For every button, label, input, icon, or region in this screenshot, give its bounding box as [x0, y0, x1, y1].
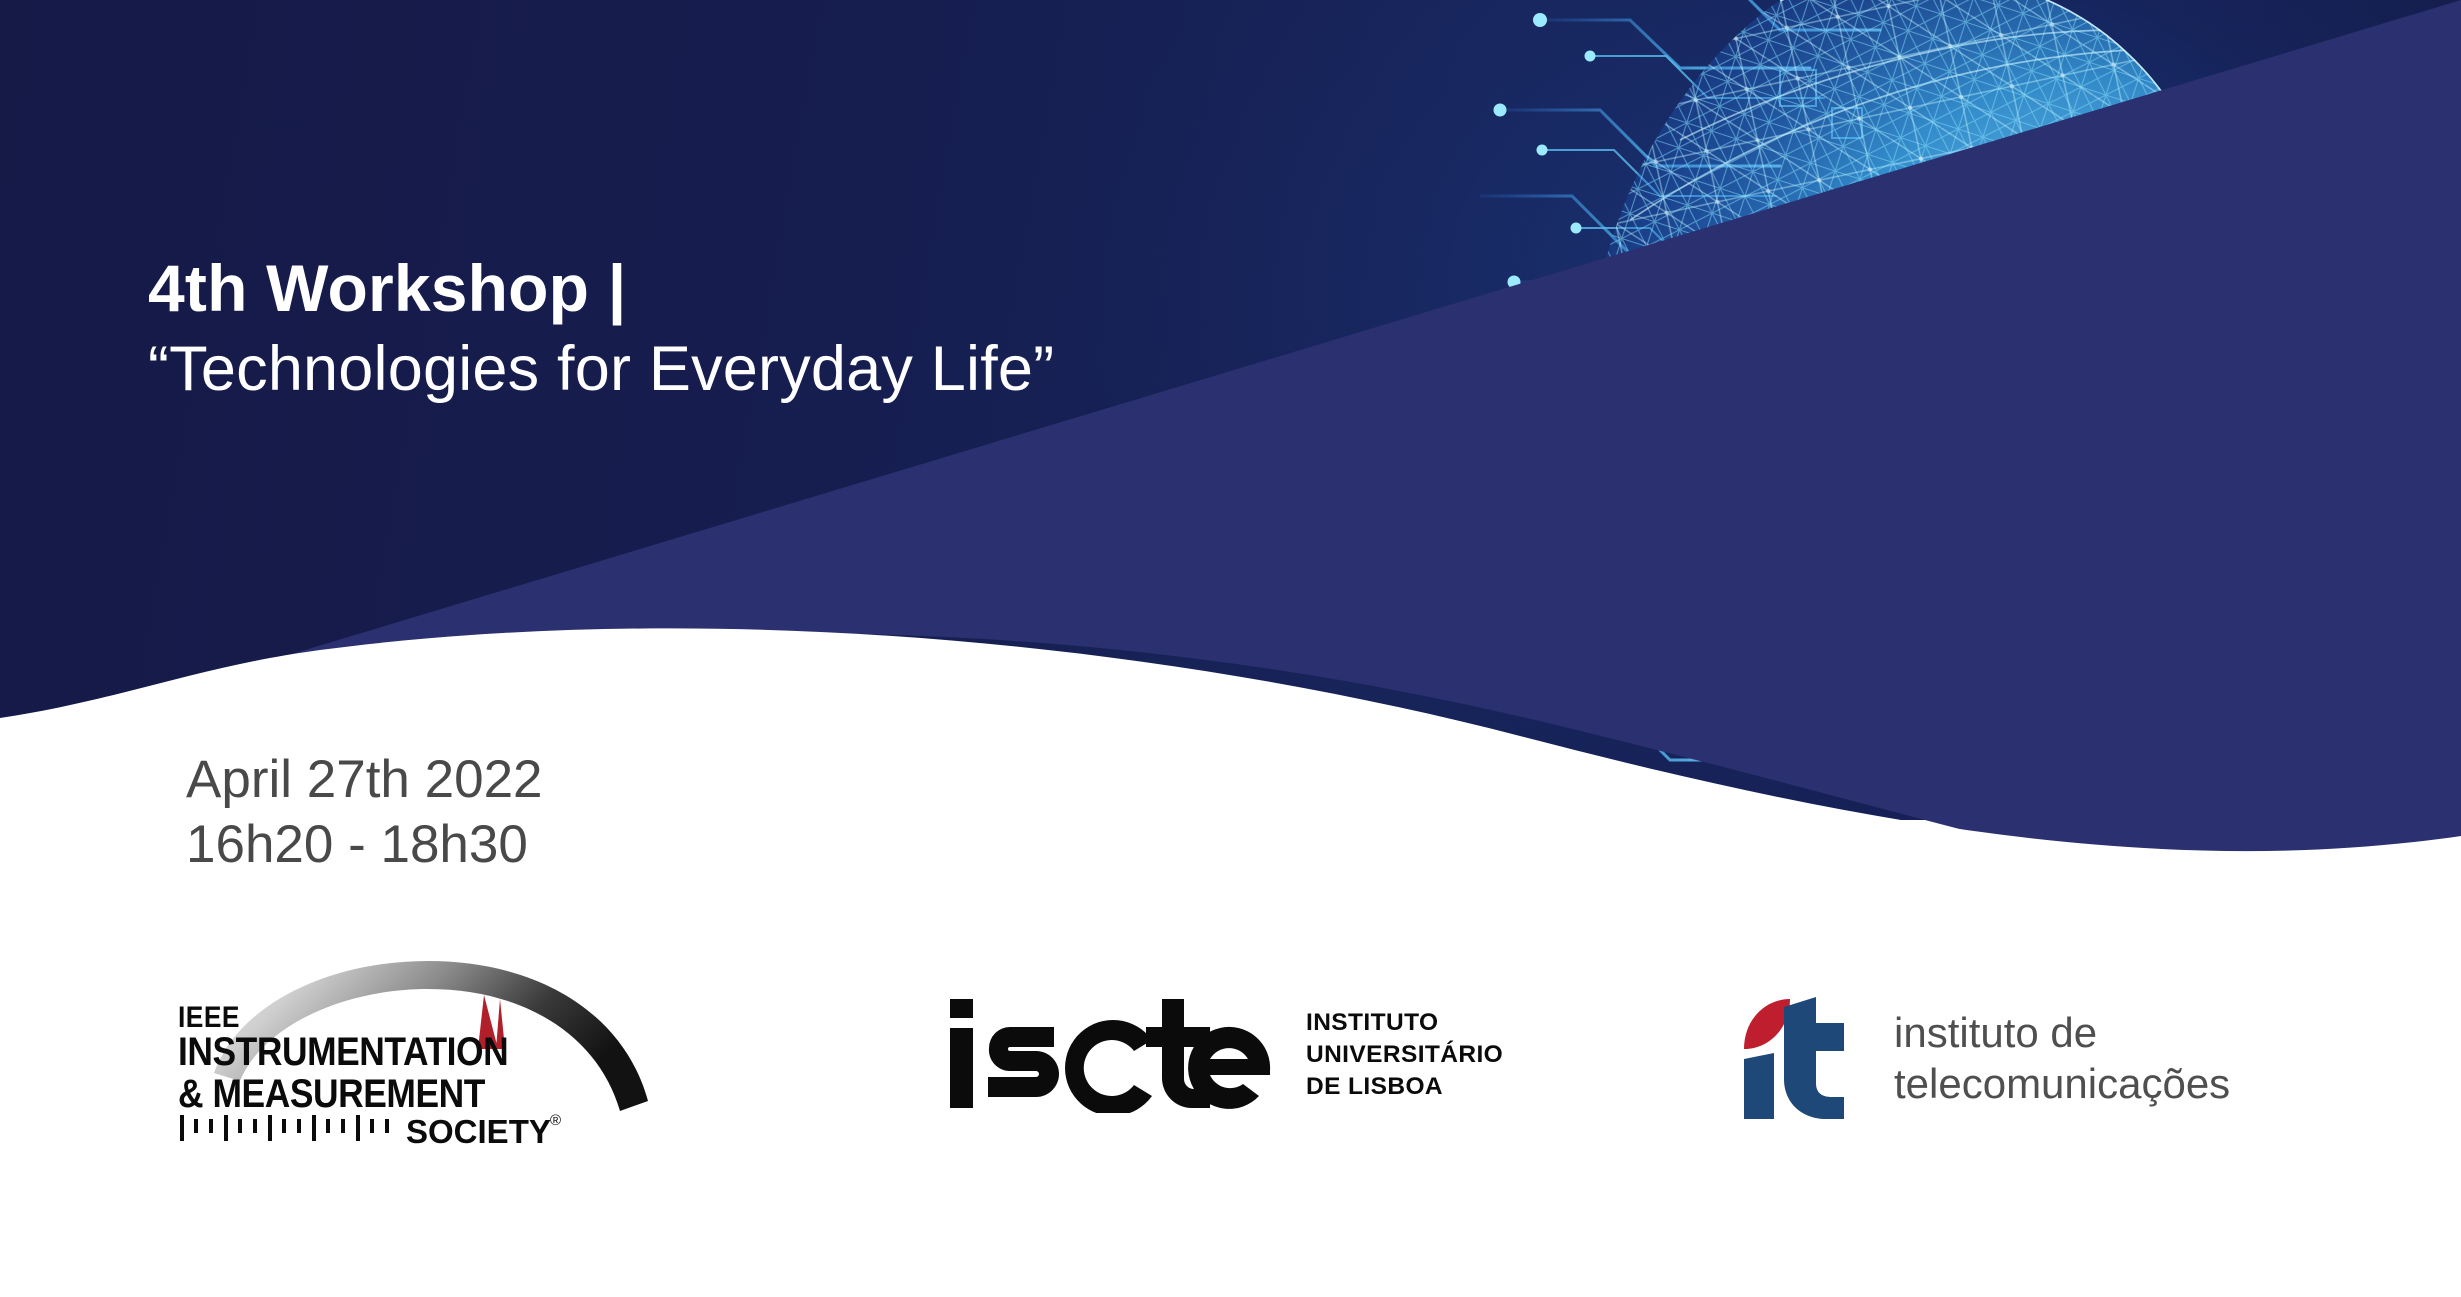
event-banner: 4th Workshop | “Technologies for Everyda… [0, 0, 2461, 1297]
title-line-1: 4th Workshop | [148, 252, 1448, 326]
ieee-registered-mark: ® [550, 1112, 561, 1129]
it-monogram-icon [1740, 993, 1852, 1125]
it-sub-line-2: telecomunicações [1894, 1059, 2230, 1110]
ieee-line-2: & MEASUREMENT [178, 1072, 485, 1116]
iscte-wordmark [948, 997, 1272, 1113]
it-sub-line-1: instituto de [1894, 1008, 2230, 1059]
banner-hero-background [0, 0, 2461, 820]
it-subtitle: instituto de telecomunicações [1894, 1008, 2230, 1110]
it-red-dot [1744, 999, 1790, 1049]
instituto-de-telecomunicacoes-logo: instituto de telecomunicações [1740, 993, 2230, 1125]
ieee-line-3: SOCIETY [406, 1113, 551, 1150]
workshop-title: 4th Workshop | “Technologies for Everyda… [148, 252, 1448, 406]
ieee-ims-logo: IEEE INSTRUMENTATION & MEASUREMENT [178, 955, 718, 1155]
ieee-acronym: IEEE [178, 999, 240, 1033]
event-time: 16h20 - 18h30 [186, 813, 543, 878]
title-line-2: “Technologies for Everyday Life” [148, 332, 1448, 406]
event-datetime: April 27th 2022 16h20 - 18h30 [186, 748, 543, 877]
iscte-sub-line-3: DE LISBOA [1306, 1071, 1503, 1103]
digital-head-circuit-graphic [1480, 0, 2460, 820]
event-date: April 27th 2022 [186, 748, 543, 813]
iscte-sub-line-2: UNIVERSITÁRIO [1306, 1039, 1503, 1071]
iscte-logo: INSTITUTO UNIVERSITÁRIO DE LISBOA [948, 997, 1503, 1113]
ieee-line-1: INSTRUMENTATION [178, 1030, 508, 1074]
measurement-scale-icon [182, 1115, 387, 1141]
iscte-subtitle: INSTITUTO UNIVERSITÁRIO DE LISBOA [1306, 1007, 1503, 1103]
sponsor-logo-row: IEEE INSTRUMENTATION & MEASUREMENT [0, 955, 2461, 1185]
iscte-sub-line-1: INSTITUTO [1306, 1007, 1503, 1039]
